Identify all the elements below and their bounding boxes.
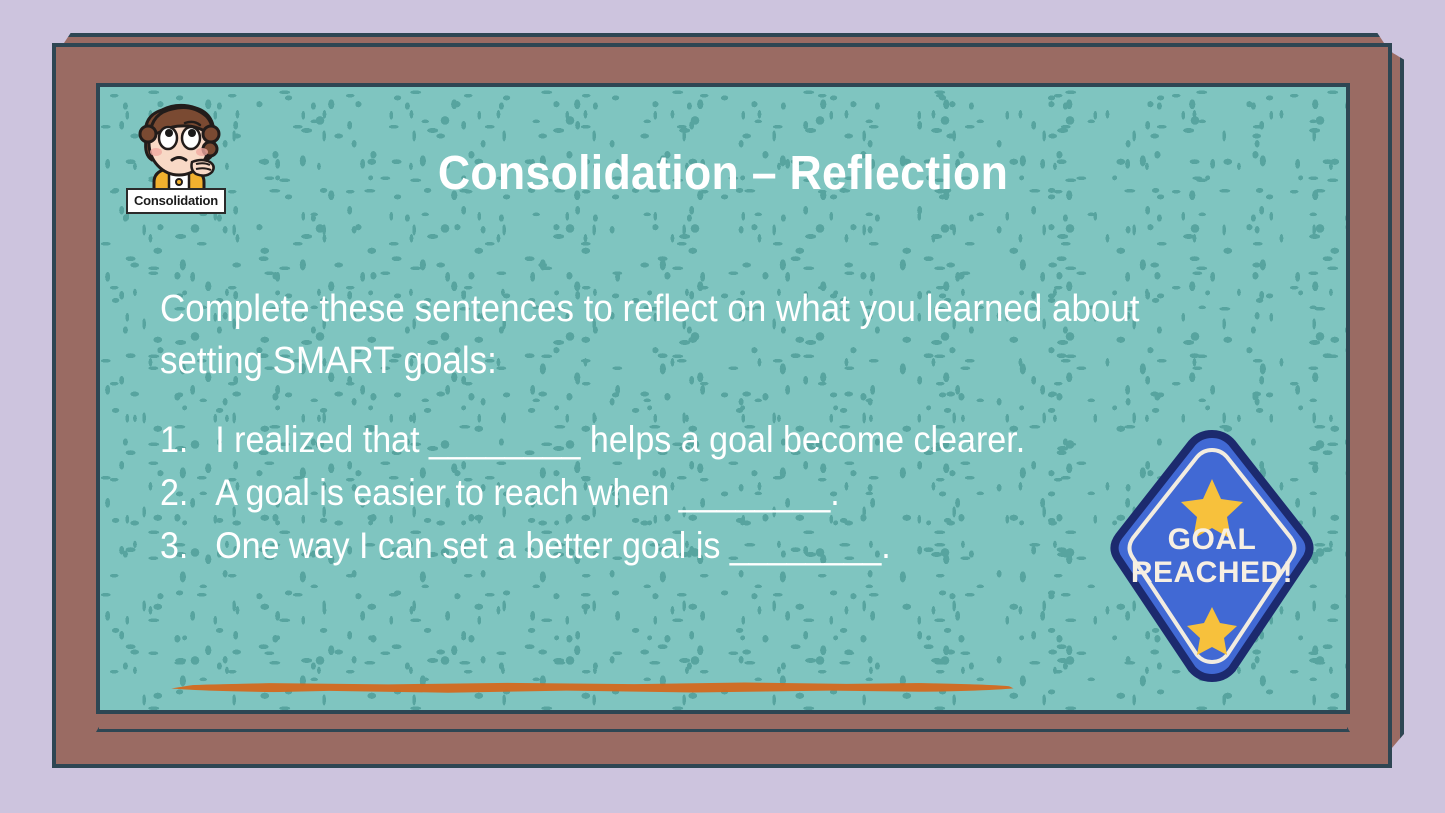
list-item: 3. One way I can set a better goal is __… <box>160 519 1080 572</box>
list-item-text: A goal is easier to reach when ________. <box>215 466 840 519</box>
goal-reached-badge: GOAL REACHED! <box>1100 424 1324 688</box>
list-item-number: 2. <box>160 466 215 519</box>
slide-canvas: Consolidation Consolidation – Reflection… <box>0 0 1445 813</box>
list-item: 2. A goal is easier to reach when ______… <box>160 466 1080 519</box>
page-title: Consolidation – Reflection <box>140 146 1306 201</box>
list-item-number: 3. <box>160 519 215 572</box>
list-item: 1. I realized that ________ helps a goal… <box>160 413 1080 466</box>
list-item-text: One way I can set a better goal is _____… <box>215 519 891 572</box>
list-item-number: 1. <box>160 413 215 466</box>
reflection-prompt-list: 1. I realized that ________ helps a goal… <box>160 413 1080 572</box>
diamond-badge-shape <box>1100 424 1324 688</box>
intro-text: Complete these sentences to reflect on w… <box>160 283 1144 387</box>
list-item-text: I realized that ________ helps a goal be… <box>215 413 1025 466</box>
